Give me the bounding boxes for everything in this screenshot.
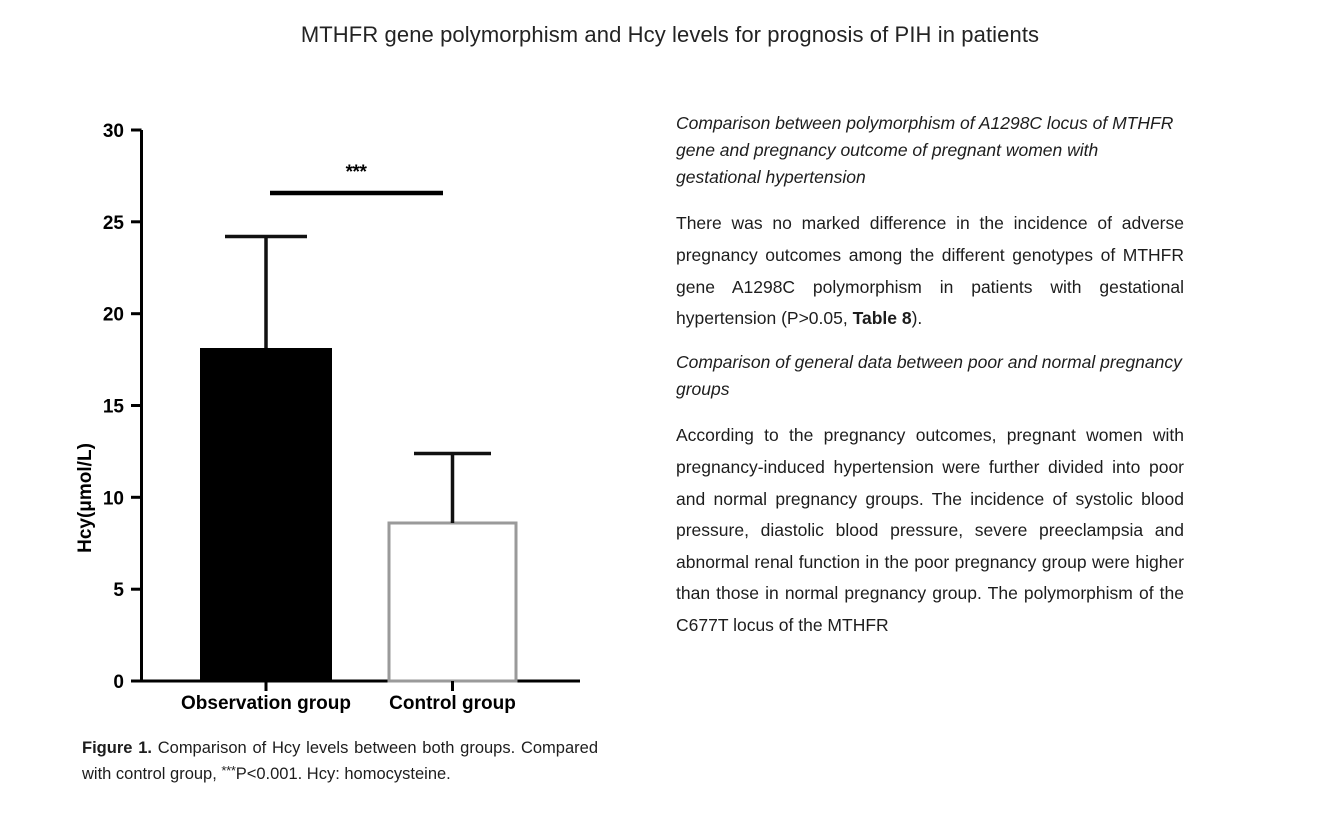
y-tick-label: 5 bbox=[113, 580, 124, 601]
section-heading-general-data: Comparison of general data between poor … bbox=[676, 349, 1184, 403]
spacer bbox=[676, 406, 1184, 420]
figure-caption-label: Figure 1. bbox=[82, 739, 152, 757]
error-bar-observation-group bbox=[225, 236, 307, 348]
table-reference: Table 8 bbox=[853, 308, 912, 328]
y-axis-ticks bbox=[131, 130, 142, 681]
significance-stars: *** bbox=[346, 162, 368, 183]
figure-caption: Figure 1. Comparison of Hcy levels betwe… bbox=[82, 738, 598, 785]
y-tick-label: 30 bbox=[103, 121, 124, 142]
page-title: MTHFR gene polymorphism and Hcy levels f… bbox=[0, 22, 1340, 48]
y-tick-label: 0 bbox=[113, 672, 124, 693]
paragraph-a1298c-outcomes: There was no marked difference in the in… bbox=[676, 208, 1184, 334]
spacer bbox=[676, 194, 1184, 208]
y-tick-label: 15 bbox=[103, 397, 125, 418]
bar-control-group bbox=[389, 523, 516, 681]
y-tick-label: 10 bbox=[103, 488, 124, 509]
bar-chart: 30 25 20 15 10 5 0 Hcy(μmol/L) bbox=[62, 108, 622, 720]
y-axis-title: Hcy(μmol/L) bbox=[75, 443, 96, 553]
paragraph-text-1a: There was no marked difference in the in… bbox=[676, 213, 1184, 328]
x-tick-label-control: Control group bbox=[389, 693, 516, 714]
y-axis-tick-labels: 30 25 20 15 10 5 0 bbox=[103, 121, 125, 693]
paragraph-text-1b: ). bbox=[912, 308, 923, 328]
bar-observation-group bbox=[200, 348, 332, 681]
y-tick-label: 20 bbox=[103, 305, 124, 326]
chart-svg: 30 25 20 15 10 5 0 Hcy(μmol/L) bbox=[62, 108, 622, 720]
figure-caption-text-2: P<0.001. Hcy: homocysteine. bbox=[236, 765, 451, 783]
figure-panel: 30 25 20 15 10 5 0 Hcy(μmol/L) bbox=[62, 108, 622, 814]
body-text-column: Comparison between polymorphism of A1298… bbox=[676, 110, 1184, 642]
x-axis-tick-labels: Observation group Control group bbox=[181, 693, 516, 714]
section-heading-a1298c: Comparison between polymorphism of A1298… bbox=[676, 110, 1184, 190]
x-tick-label-observation: Observation group bbox=[181, 693, 351, 714]
paragraph-pregnancy-groups: According to the pregnancy outcomes, pre… bbox=[676, 420, 1184, 641]
spacer bbox=[676, 335, 1184, 349]
error-bar-control-group bbox=[414, 453, 491, 523]
figure-caption-stars: *** bbox=[221, 763, 235, 778]
y-tick-label: 25 bbox=[103, 213, 125, 234]
